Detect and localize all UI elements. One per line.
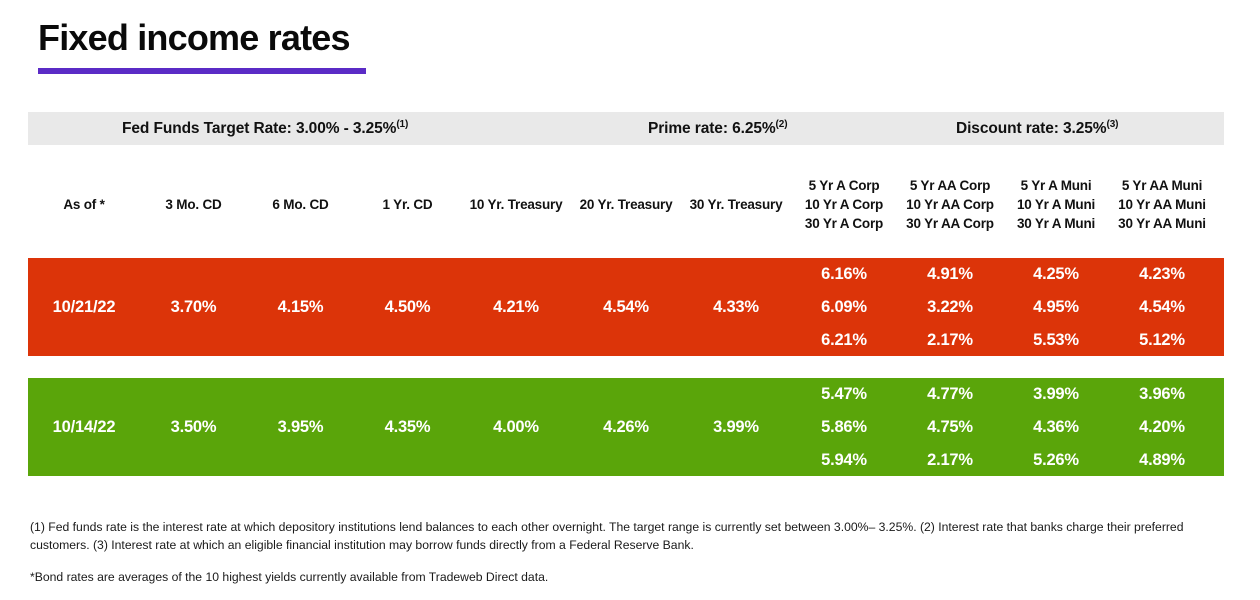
cell-5yr-aa-muni: 3.96% [1139, 378, 1185, 411]
column-header-aa-corp: 5 Yr AA Corp 10 Yr AA Corp 30 Yr AA Corp [897, 176, 1003, 233]
cell-30yr-a-muni: 5.26% [1033, 444, 1079, 477]
rates-summary-bar: Fed Funds Target Rate: 3.00% - 3.25%(1) … [28, 112, 1224, 145]
cell-5yr-aa-corp: 4.91% [927, 258, 973, 291]
table-row: 10/14/22 3.50% 3.95% 4.35% 4.00% 4.26% 3… [28, 378, 1224, 476]
cell-10yr-aa-muni: 4.20% [1139, 411, 1185, 444]
cell-10yr-a-corp: 6.09% [821, 291, 867, 324]
cell-30yr-a-muni: 5.53% [1033, 324, 1079, 357]
cell-10yr-aa-corp: 4.75% [927, 411, 973, 444]
discount-rate-footnote-marker: (3) [1106, 118, 1118, 129]
prime-rate-footnote-marker: (2) [776, 118, 788, 129]
cell-aa-corp: 4.77% 4.75% 2.17% [897, 378, 1003, 477]
title-block: Fixed income rates [38, 16, 366, 74]
cell-3mo-cd: 3.50% [140, 418, 247, 437]
footnotes: (1) Fed funds rate is the interest rate … [30, 518, 1190, 586]
cell-5yr-aa-corp: 4.77% [927, 378, 973, 411]
footnote-starred: *Bond rates are averages of the 10 highe… [30, 568, 1190, 586]
column-header-5yr-aa-corp: 5 Yr AA Corp [910, 176, 990, 195]
cell-30yr-treasury: 3.99% [681, 418, 791, 437]
column-header-5yr-a-muni: 5 Yr A Muni [1021, 176, 1092, 195]
table-row: 10/21/22 3.70% 4.15% 4.50% 4.21% 4.54% 4… [28, 258, 1224, 356]
column-header-10yr-aa-muni: 10 Yr AA Muni [1118, 195, 1206, 214]
cell-10yr-aa-muni: 4.54% [1139, 291, 1185, 324]
cell-30yr-aa-muni: 4.89% [1139, 444, 1185, 477]
column-header-a-corp: 5 Yr A Corp 10 Yr A Corp 30 Yr A Corp [791, 176, 897, 233]
column-header-30yr-a-corp: 30 Yr A Corp [805, 214, 883, 233]
page-title: Fixed income rates [38, 16, 366, 60]
column-header-5yr-aa-muni: 5 Yr AA Muni [1122, 176, 1202, 195]
cell-1yr-cd: 4.35% [354, 418, 461, 437]
cell-10yr-a-muni: 4.95% [1033, 291, 1079, 324]
fed-funds-target-rate-label: Fed Funds Target Rate: 3.00% - 3.25% [122, 120, 396, 137]
column-header-30yr-treasury: 30 Yr. Treasury [681, 195, 791, 214]
cell-30yr-a-corp: 6.21% [821, 324, 867, 357]
column-header-30yr-aa-muni: 30 Yr AA Muni [1118, 214, 1206, 233]
cell-1yr-cd: 4.50% [354, 298, 461, 317]
cell-5yr-aa-muni: 4.23% [1139, 258, 1185, 291]
prime-rate-label: Prime rate: 6.25% [648, 120, 776, 137]
column-header-30yr-aa-corp: 30 Yr AA Corp [906, 214, 994, 233]
cell-20yr-treasury: 4.26% [571, 418, 681, 437]
column-header-a-muni: 5 Yr A Muni 10 Yr A Muni 30 Yr A Muni [1003, 176, 1109, 233]
cell-a-muni: 3.99% 4.36% 5.26% [1003, 378, 1109, 477]
column-header-10yr-aa-corp: 10 Yr AA Corp [906, 195, 994, 214]
title-underline-rule [38, 68, 366, 74]
cell-5yr-a-muni: 3.99% [1033, 378, 1079, 411]
cell-10yr-a-corp: 5.86% [821, 411, 867, 444]
cell-3mo-cd: 3.70% [140, 298, 247, 317]
footnote-numbered: (1) Fed funds rate is the interest rate … [30, 518, 1190, 554]
cell-aa-muni: 4.23% 4.54% 5.12% [1109, 258, 1215, 357]
column-header-30yr-a-muni: 30 Yr A Muni [1017, 214, 1095, 233]
cell-30yr-aa-muni: 5.12% [1139, 324, 1185, 357]
cell-30yr-treasury: 4.33% [681, 298, 791, 317]
cell-10yr-treasury: 4.00% [461, 418, 571, 437]
column-header-3mo-cd: 3 Mo. CD [140, 195, 247, 214]
column-header-20yr-treasury: 20 Yr. Treasury [571, 195, 681, 214]
column-header-10yr-a-corp: 10 Yr A Corp [805, 195, 883, 214]
fed-funds-target-rate: Fed Funds Target Rate: 3.00% - 3.25%(1) [122, 120, 408, 138]
discount-rate: Discount rate: 3.25%(3) [956, 120, 1118, 138]
column-header-10yr-treasury: 10 Yr. Treasury [461, 195, 571, 214]
cell-30yr-aa-corp: 2.17% [927, 324, 973, 357]
cell-5yr-a-muni: 4.25% [1033, 258, 1079, 291]
cell-10yr-a-muni: 4.36% [1033, 411, 1079, 444]
table-header-row: As of * 3 Mo. CD 6 Mo. CD 1 Yr. CD 10 Yr… [28, 160, 1224, 248]
cell-aa-corp: 4.91% 3.22% 2.17% [897, 258, 1003, 357]
cell-10yr-aa-corp: 3.22% [927, 291, 973, 324]
cell-5yr-a-corp: 6.16% [821, 258, 867, 291]
cell-as-of: 10/21/22 [28, 298, 140, 317]
prime-rate: Prime rate: 6.25%(2) [648, 120, 787, 138]
cell-20yr-treasury: 4.54% [571, 298, 681, 317]
fed-funds-footnote-marker: (1) [396, 118, 408, 129]
cell-6mo-cd: 4.15% [247, 298, 354, 317]
discount-rate-label: Discount rate: 3.25% [956, 120, 1106, 137]
cell-10yr-treasury: 4.21% [461, 298, 571, 317]
cell-a-corp: 5.47% 5.86% 5.94% [791, 378, 897, 477]
cell-30yr-a-corp: 5.94% [821, 444, 867, 477]
cell-aa-muni: 3.96% 4.20% 4.89% [1109, 378, 1215, 477]
fixed-income-rates-page: Fixed income rates Fed Funds Target Rate… [0, 0, 1260, 600]
cell-5yr-a-corp: 5.47% [821, 378, 867, 411]
column-header-10yr-a-muni: 10 Yr A Muni [1017, 195, 1095, 214]
column-header-5yr-a-corp: 5 Yr A Corp [809, 176, 880, 195]
column-header-as-of: As of * [28, 195, 140, 214]
cell-30yr-aa-corp: 2.17% [927, 444, 973, 477]
column-header-1yr-cd: 1 Yr. CD [354, 195, 461, 214]
cell-a-muni: 4.25% 4.95% 5.53% [1003, 258, 1109, 357]
cell-as-of: 10/14/22 [28, 418, 140, 437]
cell-6mo-cd: 3.95% [247, 418, 354, 437]
column-header-6mo-cd: 6 Mo. CD [247, 195, 354, 214]
column-header-aa-muni: 5 Yr AA Muni 10 Yr AA Muni 30 Yr AA Muni [1109, 176, 1215, 233]
cell-a-corp: 6.16% 6.09% 6.21% [791, 258, 897, 357]
fixed-income-rates-table: As of * 3 Mo. CD 6 Mo. CD 1 Yr. CD 10 Yr… [28, 160, 1224, 476]
